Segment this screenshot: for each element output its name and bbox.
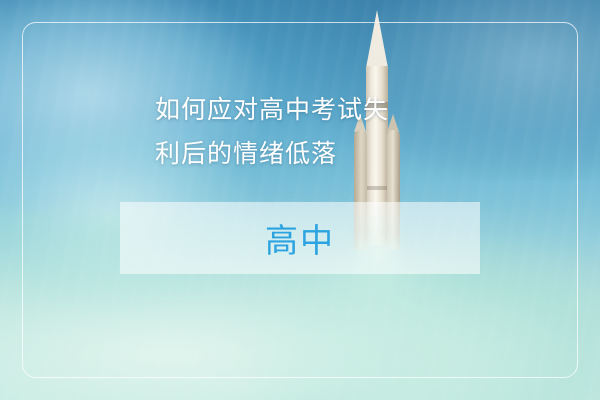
category-tag-label: 高中	[265, 214, 335, 262]
banner-title-line-1: 如何应对高中考试失	[155, 88, 445, 132]
banner-title-line-2: 利后的情绪低落	[155, 132, 445, 176]
banner-content: 如何应对高中考试失 利后的情绪低落 高中	[0, 88, 600, 274]
category-tag-bar[interactable]: 高中	[120, 202, 480, 274]
banner-title: 如何应对高中考试失 利后的情绪低落	[155, 88, 445, 176]
banner: 如何应对高中考试失 利后的情绪低落 高中	[0, 0, 600, 400]
